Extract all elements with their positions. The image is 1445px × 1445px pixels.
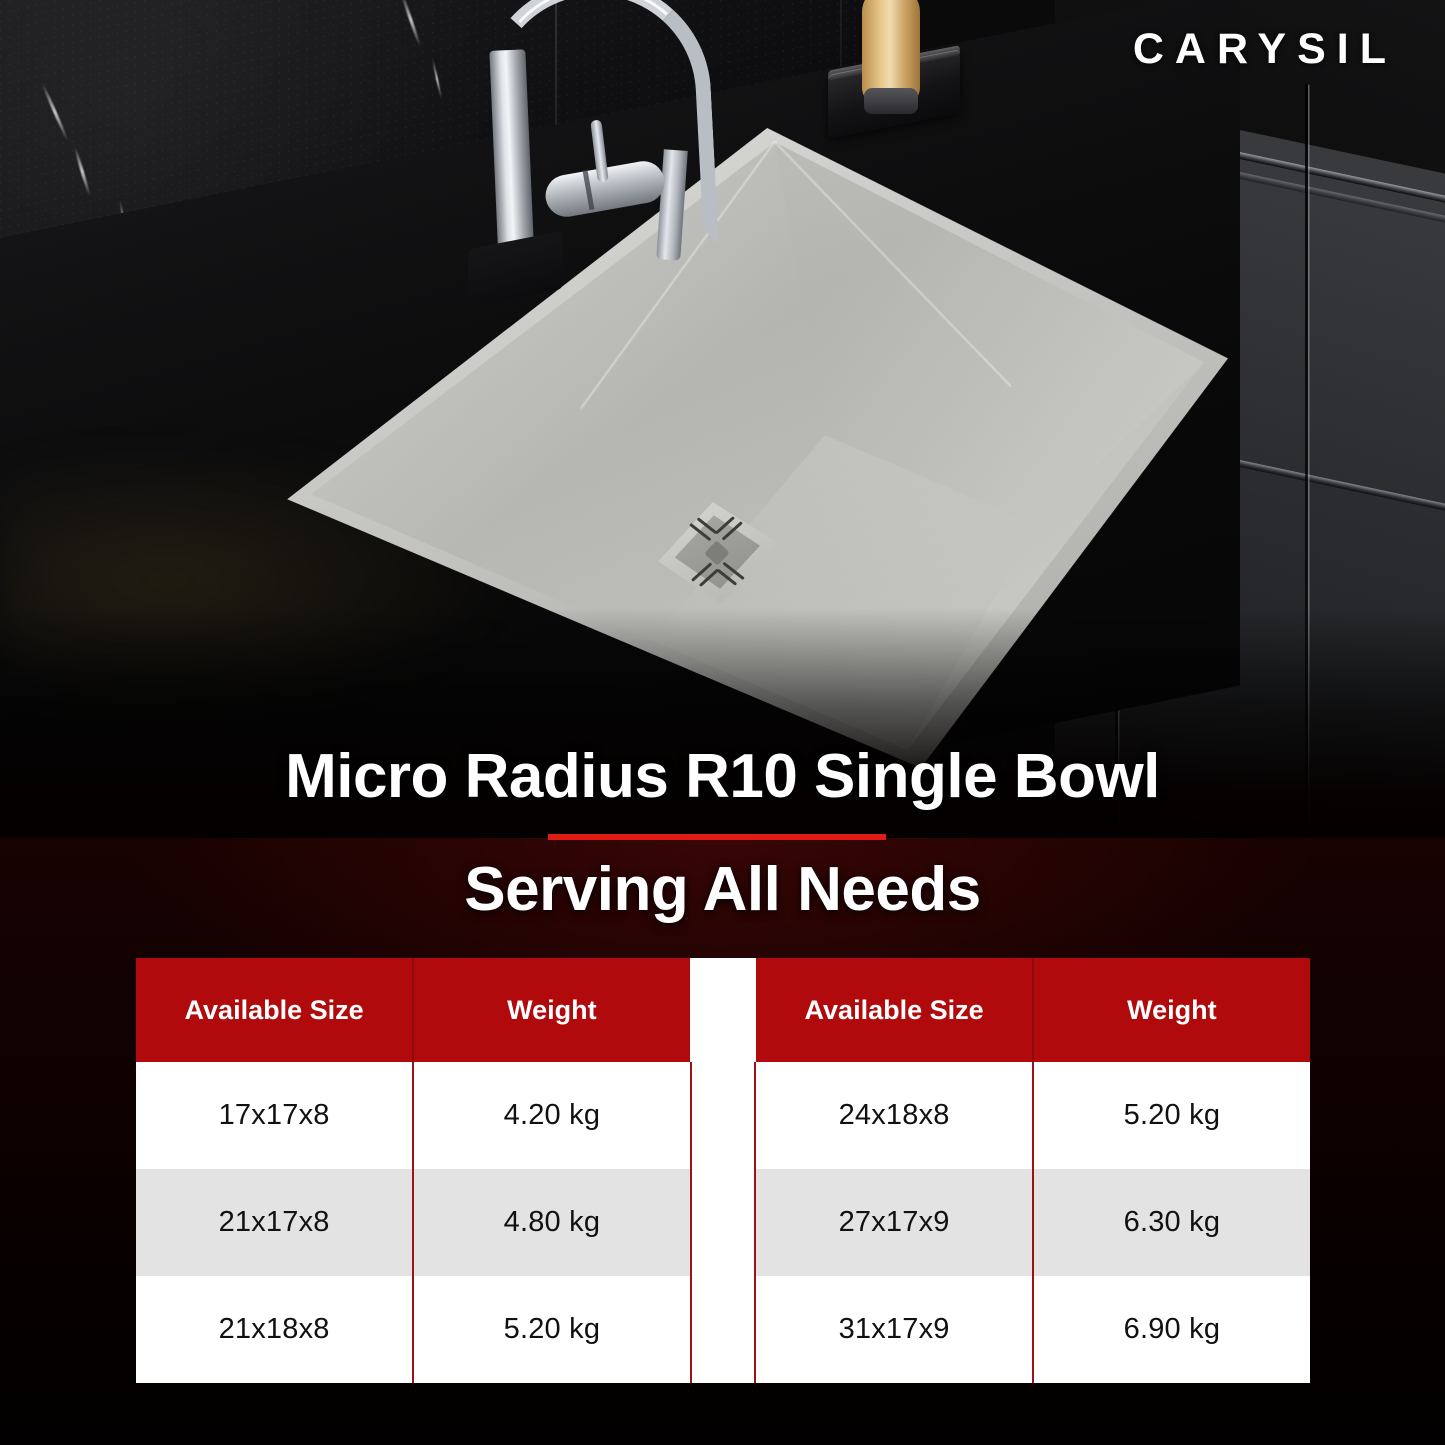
column-header-weight: Weight <box>414 958 690 1062</box>
table-row: 17x17x8 4.20 kg <box>136 1062 690 1169</box>
cell-size: 17x17x8 <box>136 1062 412 1169</box>
carysil-logo: CARYSIL <box>1133 28 1397 71</box>
cell-weight: 6.90 kg <box>1034 1276 1310 1383</box>
headline-accent-rule <box>548 834 886 840</box>
size-table-right: Available Size Weight 24x18x8 5.20 kg 27… <box>756 958 1310 1383</box>
cell-size: 21x18x8 <box>136 1276 412 1383</box>
table-row: 21x18x8 5.20 kg <box>136 1276 690 1383</box>
utensil-collar <box>864 88 918 114</box>
table-gap-column <box>690 958 756 1383</box>
column-header-available-size: Available Size <box>756 958 1032 1062</box>
gap-border-left <box>690 1062 692 1383</box>
gap-border-right <box>754 1062 756 1383</box>
cell-size: 31x17x9 <box>756 1276 1032 1383</box>
column-header-weight: Weight <box>1034 958 1310 1062</box>
column-header-available-size: Available Size <box>136 958 412 1062</box>
table-row: 24x18x8 5.20 kg <box>756 1062 1310 1169</box>
headline-line-2: Serving All Needs <box>0 858 1445 921</box>
promo-canvas: CARYSIL Micro Radius R10 Single Bowl Ser… <box>0 0 1445 1445</box>
cell-weight: 4.20 kg <box>414 1062 690 1169</box>
table-header-row: Available Size Weight <box>136 958 690 1062</box>
cell-weight: 6.30 kg <box>1034 1169 1310 1276</box>
cell-size: 27x17x9 <box>756 1169 1032 1276</box>
size-table-left: Available Size Weight 17x17x8 4.20 kg 21… <box>136 958 690 1383</box>
table-header-row: Available Size Weight <box>756 958 1310 1062</box>
cell-weight: 5.20 kg <box>414 1276 690 1383</box>
table-row: 27x17x9 6.30 kg <box>756 1169 1310 1276</box>
size-weight-tables: Available Size Weight 17x17x8 4.20 kg 21… <box>136 958 1310 1383</box>
table-row: 31x17x9 6.90 kg <box>756 1276 1310 1383</box>
headline-block: Micro Radius R10 Single Bowl <box>0 745 1445 808</box>
square-drain <box>652 498 782 608</box>
product-photo <box>0 0 1445 838</box>
cell-weight: 4.80 kg <box>414 1169 690 1276</box>
table-row: 21x17x8 4.80 kg <box>136 1169 690 1276</box>
cell-size: 24x18x8 <box>756 1062 1032 1169</box>
cell-weight: 5.20 kg <box>1034 1062 1310 1169</box>
cell-size: 21x17x8 <box>136 1169 412 1276</box>
subheadline-block: Serving All Needs <box>0 858 1445 921</box>
headline-line-1: Micro Radius R10 Single Bowl <box>0 745 1445 808</box>
